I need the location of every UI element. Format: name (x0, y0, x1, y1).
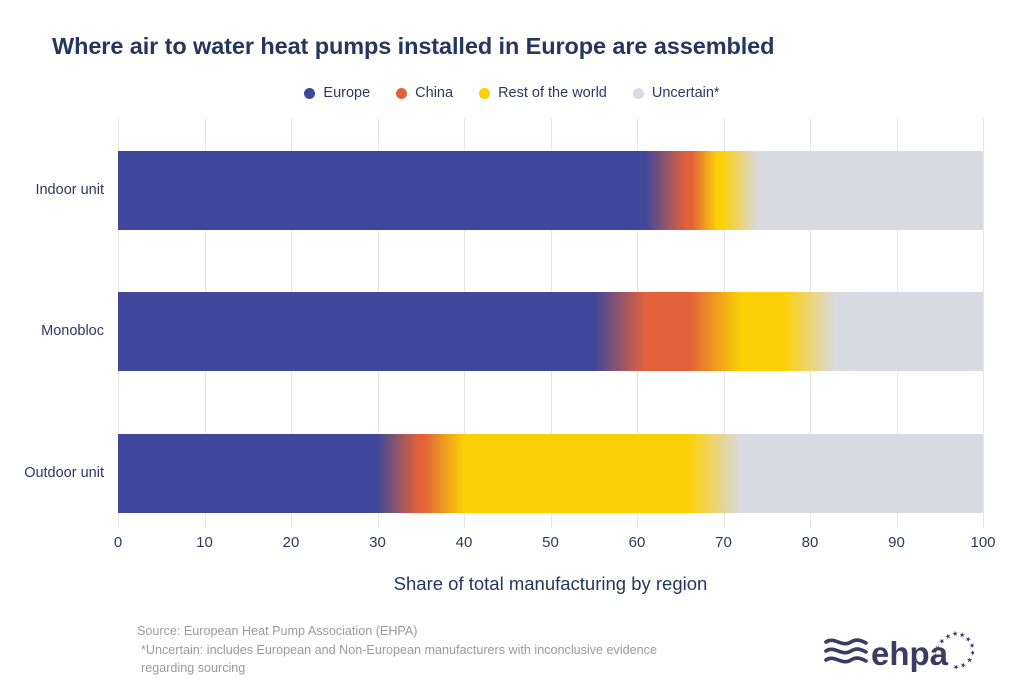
legend-item-china[interactable]: China (396, 85, 453, 101)
y-tick-label-monobloc: Monobloc (0, 323, 104, 339)
legend-item-uncertain[interactable]: Uncertain* (633, 85, 720, 101)
legend-swatch-china (396, 88, 407, 99)
legend-label-china: China (415, 85, 453, 101)
legend-item-rest-of-the-world[interactable]: Rest of the world (479, 85, 607, 101)
uncertain-note-line-2: regarding sourcing (137, 659, 657, 678)
x-tick-label: 10 (196, 534, 213, 551)
gridline (983, 118, 984, 528)
bar-monobloc[interactable] (118, 292, 983, 371)
x-tick-label: 60 (629, 534, 646, 551)
x-tick-label: 30 (369, 534, 386, 551)
legend-label-europe: Europe (323, 85, 370, 101)
y-tick-label-indoor-unit: Indoor unit (0, 182, 104, 198)
legend-swatch-europe (304, 88, 315, 99)
source-line: Source: European Heat Pump Association (… (137, 622, 657, 641)
y-axis-labels: Indoor unitMonoblocOutdoor unit (0, 118, 104, 528)
x-tick-label: 100 (970, 534, 995, 551)
chart-legend: Europe China Rest of the world Uncertain… (0, 85, 1024, 101)
chart-title: Where air to water heat pumps installed … (52, 33, 774, 60)
legend-swatch-rest-of-the-world (479, 88, 490, 99)
x-tick-label: 40 (456, 534, 473, 551)
x-tick-label: 0 (114, 534, 122, 551)
bars-layer (118, 118, 983, 528)
legend-label-uncertain: Uncertain* (652, 85, 720, 101)
x-tick-label: 70 (715, 534, 732, 551)
x-tick-label: 90 (888, 534, 905, 551)
x-tick-label: 50 (542, 534, 559, 551)
svg-text:★: ★ (951, 663, 960, 671)
bar-indoor-unit[interactable] (118, 151, 983, 230)
footer-note: Source: European Heat Pump Association (… (137, 622, 657, 678)
x-axis-title: Share of total manufacturing by region (118, 573, 983, 595)
uncertain-note-line-1: *Uncertain: includes European and Non-Eu… (137, 641, 657, 660)
svg-text:★: ★ (952, 630, 959, 639)
y-tick-label-outdoor-unit: Outdoor unit (0, 465, 104, 481)
wave-icon (826, 640, 866, 662)
plot-area (118, 118, 983, 528)
chart-container: Where air to water heat pumps installed … (0, 0, 1024, 683)
x-tick-label: 20 (283, 534, 300, 551)
bar-outdoor-unit[interactable] (118, 434, 983, 513)
legend-label-rest-of-the-world: Rest of the world (498, 85, 607, 101)
ehpa-logo-svg: ehpa ★ ★ ★ ★ ★ ★ ★ ★ ★ ★ ★ ★ (824, 628, 974, 678)
legend-swatch-uncertain (633, 88, 644, 99)
legend-item-europe[interactable]: Europe (304, 85, 370, 101)
x-tick-label: 80 (802, 534, 819, 551)
x-axis-ticks: 0102030405060708090100 (118, 534, 983, 556)
ehpa-logo: ehpa ★ ★ ★ ★ ★ ★ ★ ★ ★ ★ ★ ★ (824, 628, 974, 678)
